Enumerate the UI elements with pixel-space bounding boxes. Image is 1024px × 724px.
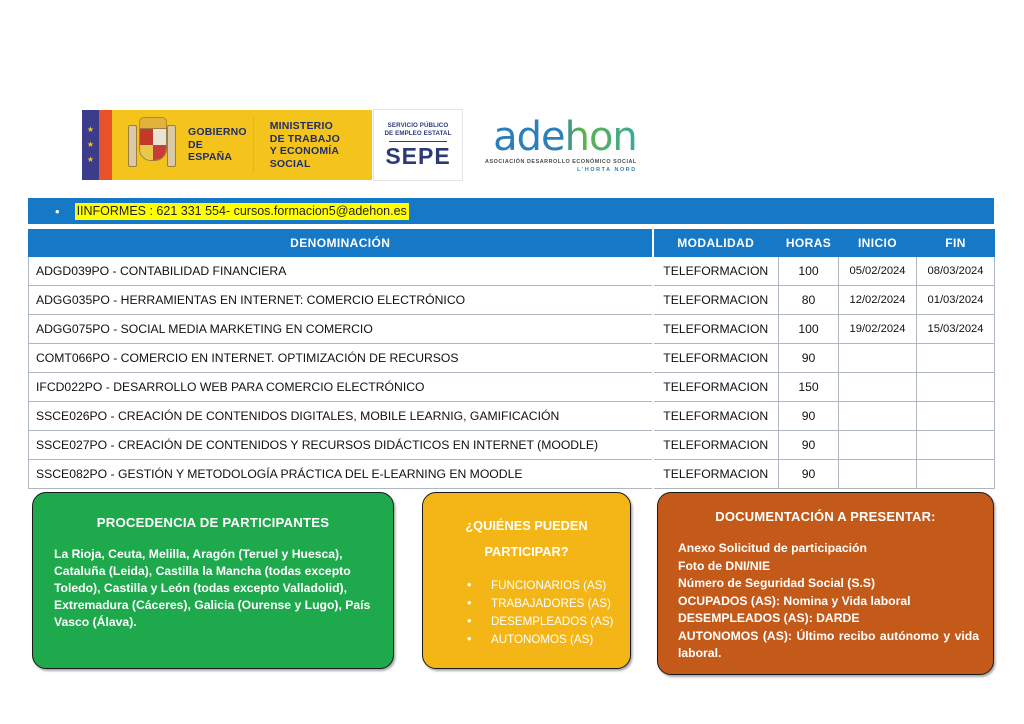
cell-fin — [917, 431, 995, 460]
bullet-icon: • — [55, 205, 60, 218]
cell-horas: 90 — [779, 431, 839, 460]
table-row: ADGG075PO - SOCIAL MEDIA MARKETING EN CO… — [29, 315, 995, 344]
cell-modalidad: TELEFORMACION — [653, 344, 779, 373]
cell-denominacion: COMT066PO - COMERCIO EN INTERNET. OPTIMI… — [29, 344, 653, 373]
cell-horas: 100 — [779, 257, 839, 286]
sepe-subtitle-line1: SERVICIO PÚBLICO — [384, 122, 451, 130]
table-row: SSCE082PO - GESTIÓN Y METODOLOGÍA PRÁCTI… — [29, 460, 995, 489]
cell-inicio: 05/02/2024 — [839, 257, 917, 286]
table-row: ADGG035PO - HERRAMIENTAS EN INTERNET: CO… — [29, 286, 995, 315]
red-strip — [99, 110, 112, 180]
star-icon: ★ — [87, 126, 94, 134]
column-header-inicio: INICIO — [839, 230, 917, 257]
cell-fin — [917, 344, 995, 373]
column-header-denominacion: DENOMINACIÓN — [29, 230, 653, 257]
sepe-logo: SERVICIO PÚBLICO DE EMPLEO ESTATAL SEPE — [373, 109, 463, 181]
cell-inicio: 19/02/2024 — [839, 315, 917, 344]
cell-denominacion: SSCE082PO - GESTIÓN Y METODOLOGÍA PRÁCTI… — [29, 460, 653, 489]
procedencia-box: PROCEDENCIA DE PARTICIPANTES La Rioja, C… — [32, 492, 394, 669]
list-item: AUTONOMOS (AS) — [467, 631, 620, 649]
quienes-list: FUNCIONARIOS (AS) TRABAJADORES (AS) DESE… — [433, 577, 620, 649]
cell-inicio — [839, 431, 917, 460]
cell-denominacion: SSCE027PO - CREACIÓN DE CONTENIDOS Y REC… — [29, 431, 653, 460]
procedencia-body: La Rioja, Ceuta, Melilla, Aragón (Teruel… — [49, 546, 377, 631]
cell-denominacion: SSCE026PO - CREACIÓN DE CONTENIDOS DIGIT… — [29, 402, 653, 431]
spain-coat-of-arms-icon — [126, 117, 178, 173]
informes-bar: • IINFORMES : 621 331 554- cursos.formac… — [28, 198, 994, 224]
star-icon: ★ — [87, 156, 94, 164]
logo-strip: ★ ★ ★ GOBIERNO DE ESPAÑA MINISTERIO DE T… — [82, 106, 637, 184]
documentacion-title: DOCUMENTACIÓN A PRESENTAR: — [672, 509, 979, 524]
logo-divider — [253, 117, 254, 173]
table-row: SSCE026PO - CREACIÓN DE CONTENIDOS DIGIT… — [29, 402, 995, 431]
documentacion-line: DESEMPLEADOS (AS): DARDE — [678, 610, 979, 628]
documentacion-line: Anexo Solicitud de participación — [678, 540, 979, 558]
cell-fin: 08/03/2024 — [917, 257, 995, 286]
cell-horas: 100 — [779, 315, 839, 344]
cell-modalidad: TELEFORMACION — [653, 402, 779, 431]
ministerio-line1: MINISTERIO — [270, 120, 372, 133]
table-row: SSCE027PO - CREACIÓN DE CONTENIDOS Y REC… — [29, 431, 995, 460]
gobierno-line2: DE ESPAÑA — [188, 139, 247, 164]
table-row: ADGD039PO - CONTABILIDAD FINANCIERA TELE… — [29, 257, 995, 286]
cell-fin — [917, 402, 995, 431]
adehon-logo: adehon ASOCIACIÓN DESARROLLO ECONÓMICO S… — [485, 110, 637, 180]
table-row: COMT066PO - COMERCIO EN INTERNET. OPTIMI… — [29, 344, 995, 373]
cell-denominacion: IFCD022PO - DESARROLLO WEB PARA COMERCIO… — [29, 373, 653, 402]
cell-inicio — [839, 344, 917, 373]
cell-horas: 80 — [779, 286, 839, 315]
sepe-rule — [389, 141, 447, 142]
column-header-horas: HORAS — [779, 230, 839, 257]
list-item: FUNCIONARIOS (AS) — [467, 577, 620, 595]
cell-inicio — [839, 402, 917, 431]
adehon-wordmark: adehon — [493, 117, 637, 157]
gobierno-text: GOBIERNO DE ESPAÑA — [188, 126, 247, 164]
cell-fin — [917, 373, 995, 402]
gobierno-line1: GOBIERNO — [188, 126, 247, 139]
cell-modalidad: TELEFORMACION — [653, 257, 779, 286]
quienes-pueden-participar-box: ¿QUIÉNES PUEDEN PARTICIPAR? FUNCIONARIOS… — [422, 492, 631, 669]
documentacion-body: Anexo Solicitud de participación Foto de… — [672, 540, 979, 663]
column-header-fin: FIN — [917, 230, 995, 257]
cell-denominacion: ADGG035PO - HERRAMIENTAS EN INTERNET: CO… — [29, 286, 653, 315]
cell-modalidad: TELEFORMACION — [653, 286, 779, 315]
cell-fin — [917, 460, 995, 489]
star-icon: ★ — [87, 141, 94, 149]
column-header-modalidad: MODALIDAD — [653, 230, 779, 257]
cell-modalidad: TELEFORMACION — [653, 315, 779, 344]
sepe-subtitle-line2: DE EMPLEO ESTATAL — [384, 130, 451, 138]
quienes-title: ¿QUIÉNES PUEDEN PARTICIPAR? — [433, 513, 620, 565]
documentacion-line: Número de Seguridad Social (S.S) — [678, 575, 979, 593]
adehon-region: L'HORTA NORD — [577, 167, 637, 173]
quienes-title-line1: ¿QUIÉNES PUEDEN — [433, 513, 620, 539]
cell-horas: 150 — [779, 373, 839, 402]
sepe-acronym: SEPE — [385, 144, 450, 168]
courses-table: DENOMINACIÓN MODALIDAD HORAS INICIO FIN … — [28, 229, 995, 489]
cell-horas: 90 — [779, 402, 839, 431]
cell-denominacion: ADGG075PO - SOCIAL MEDIA MARKETING EN CO… — [29, 315, 653, 344]
documentacion-line: OCUPADOS (AS): Nomina y Vida laboral — [678, 593, 979, 611]
cell-fin: 15/03/2024 — [917, 315, 995, 344]
ministerio-line3: Y ECONOMÍA SOCIAL — [270, 145, 372, 170]
cell-modalidad: TELEFORMACION — [653, 431, 779, 460]
cell-fin: 01/03/2024 — [917, 286, 995, 315]
cell-horas: 90 — [779, 460, 839, 489]
list-item: DESEMPLEADOS (AS) — [467, 613, 620, 631]
documentacion-line: Foto de DNI/NIE — [678, 558, 979, 576]
cell-inicio: 12/02/2024 — [839, 286, 917, 315]
documentacion-box: DOCUMENTACIÓN A PRESENTAR: Anexo Solicit… — [657, 492, 994, 675]
gobierno-de-espana-logo: ★ ★ ★ GOBIERNO DE ESPAÑA MINISTERIO DE T… — [82, 110, 372, 180]
informes-contact-text: IINFORMES : 621 331 554- cursos.formacio… — [75, 203, 409, 220]
table-body: ADGD039PO - CONTABILIDAD FINANCIERA TELE… — [29, 257, 995, 489]
cell-horas: 90 — [779, 344, 839, 373]
cell-modalidad: TELEFORMACION — [653, 373, 779, 402]
cell-denominacion: ADGD039PO - CONTABILIDAD FINANCIERA — [29, 257, 653, 286]
sepe-subtitle: SERVICIO PÚBLICO DE EMPLEO ESTATAL — [384, 122, 451, 137]
documentacion-last-line: AUTONOMOS (AS): Último recibo autónomo y… — [678, 628, 979, 663]
ministerio-text: MINISTERIO DE TRABAJO Y ECONOMÍA SOCIAL — [270, 120, 372, 170]
procedencia-title: PROCEDENCIA DE PARTICIPANTES — [49, 515, 377, 530]
cell-inicio — [839, 373, 917, 402]
eu-stars-strip: ★ ★ ★ — [82, 110, 99, 180]
table-row: IFCD022PO - DESARROLLO WEB PARA COMERCIO… — [29, 373, 995, 402]
list-item: TRABAJADORES (AS) — [467, 595, 620, 613]
ministerio-line2: DE TRABAJO — [270, 133, 372, 146]
table-header-row: DENOMINACIÓN MODALIDAD HORAS INICIO FIN — [29, 230, 995, 257]
quienes-title-line2: PARTICIPAR? — [433, 539, 620, 565]
gobierno-main: GOBIERNO DE ESPAÑA MINISTERIO DE TRABAJO… — [112, 110, 372, 180]
cell-modalidad: TELEFORMACION — [653, 460, 779, 489]
cell-inicio — [839, 460, 917, 489]
